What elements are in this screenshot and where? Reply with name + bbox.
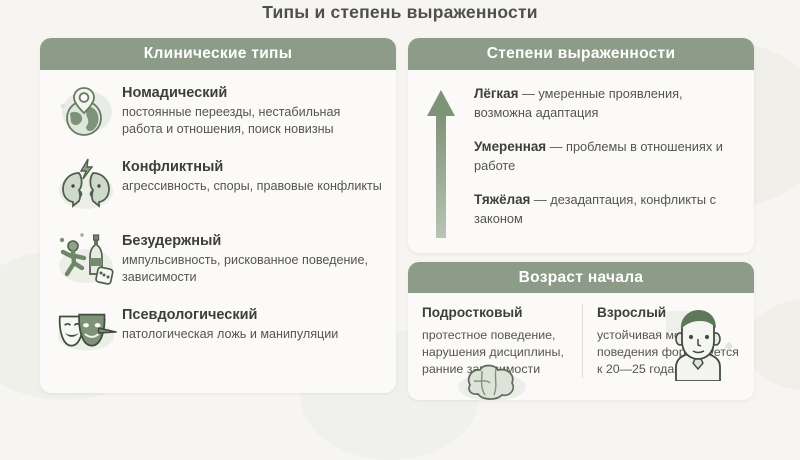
clinical-types-panel: Клинические типы Номадический постоянные… — [40, 38, 396, 393]
list-item: Тяжёлая — дезадаптация, конфликты с зако… — [474, 190, 740, 228]
running-man-bottle-dice-icon — [54, 228, 118, 290]
severity-dash: — — [530, 192, 550, 207]
severity-dash: — — [518, 86, 538, 101]
list-item: Безудержный импульсивность, рискованное … — [40, 224, 396, 298]
man-face-icon — [660, 309, 740, 386]
list-item: Номадический постоянные переезды, нестаб… — [40, 76, 396, 150]
type-name: Номадический — [122, 84, 384, 102]
type-text: Номадический постоянные переезды, нестаб… — [118, 80, 384, 138]
theater-masks-icon — [54, 302, 118, 364]
up-arrow-icon — [424, 84, 464, 243]
type-description: импульсивность, рискованное поведение, з… — [122, 252, 384, 286]
age-of-onset-body: Подростковый протестное поведение, наруш… — [408, 293, 754, 378]
age-of-onset-header: Возраст начала — [408, 262, 754, 293]
severity-header: Степени выраженности — [408, 38, 754, 70]
clinical-types-list: Номадический постоянные переезды, нестаб… — [40, 70, 396, 372]
type-description: постоянные переезды, нестабильная работа… — [122, 104, 384, 138]
age-of-onset-panel: Возраст начала Подростковый протестное п… — [408, 262, 754, 400]
severity-label: Умеренная — [474, 139, 546, 154]
list-item: Умеренная — проблемы в отношениях и рабо… — [474, 137, 740, 175]
type-description: агрессивность, споры, правовые конфликты — [122, 178, 382, 195]
type-name: Безудержный — [122, 232, 384, 250]
clinical-types-header: Клинические типы — [40, 38, 396, 70]
age-column-title: Подростковый — [422, 304, 572, 321]
age-column-adult: Взрослый устойчивая модель поведения фор… — [582, 304, 742, 378]
type-text: Безудержный импульсивность, рискованное … — [118, 228, 384, 286]
type-name: Псевдологический — [122, 306, 338, 324]
arguing-heads-icon — [54, 154, 118, 216]
list-item: Псевдологический патологическая ложь и м… — [40, 298, 396, 372]
severity-label: Тяжёлая — [474, 192, 530, 207]
severity-label: Лёгкая — [474, 86, 518, 101]
severity-panel: Степени выраженности Лёгкая — умеренные … — [408, 38, 754, 253]
brain-icon — [452, 357, 532, 400]
list-item: Конфликтный агрессивность, споры, правов… — [40, 150, 396, 224]
globe-pin-icon — [54, 80, 118, 142]
age-column-adolescent: Подростковый протестное поведение, наруш… — [422, 304, 582, 378]
page-title: Типы и степень выраженности — [0, 2, 800, 23]
severity-body: Лёгкая — умеренные проявления, возможна … — [408, 70, 754, 243]
severity-list: Лёгкая — умеренные проявления, возможна … — [464, 84, 740, 243]
list-item: Лёгкая — умеренные проявления, возможна … — [474, 84, 740, 122]
type-description: патологическая ложь и манипуляции — [122, 326, 338, 343]
type-name: Конфликтный — [122, 158, 382, 176]
type-text: Конфликтный агрессивность, споры, правов… — [118, 154, 382, 195]
type-text: Псевдологический патологическая ложь и м… — [118, 302, 338, 343]
severity-dash: — — [546, 139, 566, 154]
